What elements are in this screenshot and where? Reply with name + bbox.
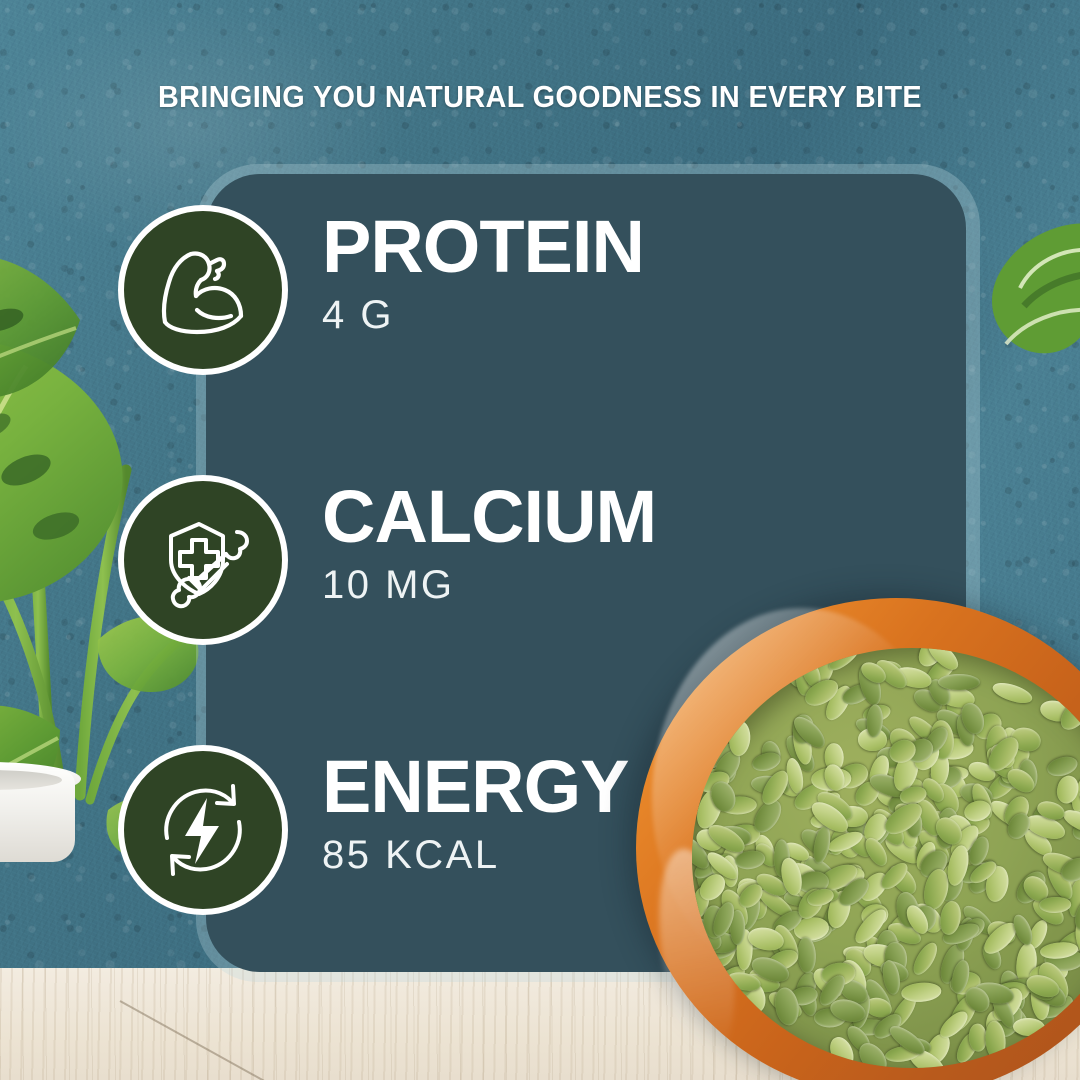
seed-bowl [636,598,1080,1080]
seed [1045,753,1080,779]
page-title: BRINGING YOU NATURAL GOODNESS IN EVERY B… [38,79,1042,115]
seed [1039,896,1072,913]
protein-label: PROTEIN [322,207,942,287]
energy-badge [118,745,288,915]
calcium-text-block: CALCIUM 10 MG [322,477,942,609]
seed [990,679,1034,707]
nutrient-row-protein: PROTEIN 4 G [0,205,1080,395]
lightning-bolt-cycle-icon [151,778,255,882]
bone-shield-cross-icon [151,508,255,612]
seed [938,674,980,691]
infographic-canvas: BRINGING YOU NATURAL GOODNESS IN EVERY B… [0,0,1080,1080]
seed [909,939,942,979]
calcium-label: CALCIUM [322,477,942,557]
flexed-bicep-icon [151,238,255,342]
protein-value: 4 G [322,291,942,339]
calcium-badge [118,475,288,645]
protein-text-block: PROTEIN 4 G [322,207,942,339]
protein-badge [118,205,288,375]
seed [901,982,943,1004]
